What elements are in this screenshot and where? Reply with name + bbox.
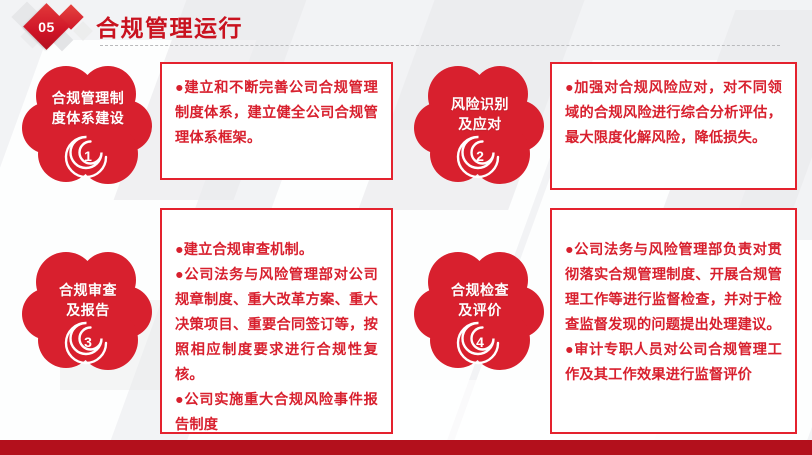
content-panel-4: ●公司法务与风险管理部负责对贯彻落实合规管理制度、开展合规管理工作等进行监督检查… xyxy=(550,208,797,434)
content-text-1: ●建立和不断完善公司合规管理制度体系，建立健全公司合规管理体系框架。 xyxy=(175,76,378,151)
section-number: 05 xyxy=(30,10,63,43)
blob-number-4: 4 xyxy=(414,334,546,350)
blob-label-line: 合规检查 xyxy=(451,282,509,298)
blob-number-3: 3 xyxy=(22,334,154,350)
header-divider xyxy=(100,45,780,46)
content-panel-3: ●建立合规审查机制。●公司法务与风险管理部对公司规章制度、重大改革方案、重大决策… xyxy=(160,208,393,434)
blob-label-line: 及评价 xyxy=(458,302,502,318)
blob-label-line: 合规管理制 xyxy=(52,90,125,106)
blob-label-2: 风险识别 及应对 xyxy=(414,94,546,134)
blob-badge-4: 合规检查 及评价 4 xyxy=(414,248,546,374)
page-title: 合规管理运行 xyxy=(96,9,243,43)
content-text-3: ●建立合规审查机制。●公司法务与风险管理部对公司规章制度、重大改革方案、重大决策… xyxy=(175,238,378,438)
blob-badge-1: 合规管理制 度体系建设 1 xyxy=(22,62,154,188)
blob-badge-3: 合规审查 及报告 3 xyxy=(22,248,154,374)
blob-label-1: 合规管理制 度体系建设 xyxy=(22,88,154,128)
slide-canvas: 05 合规管理运行 合规管理制 度体系建设 1 ●建立和不断完善公司合规管理制度… xyxy=(0,0,812,455)
diamond-cluster-icon: 05 xyxy=(14,2,104,54)
content-panel-1: ●建立和不断完善公司合规管理制度体系，建立健全公司合规管理体系框架。 xyxy=(160,62,393,180)
content-panel-2: ●加强对合规风险应对，对不同领域的合规风险进行综合分析评估，最大限度化解风险，降… xyxy=(550,62,797,190)
blob-label-line: 风险识别 xyxy=(451,96,509,112)
slide-header: 05 合规管理运行 xyxy=(0,0,812,56)
blob-label-line: 及报告 xyxy=(66,302,110,318)
content-text-4: ●公司法务与风险管理部负责对贯彻落实合规管理制度、开展合规管理工作等进行监督检查… xyxy=(565,238,782,388)
blob-label-line: 合规审查 xyxy=(59,282,117,298)
blob-label-3: 合规审查 及报告 xyxy=(22,280,154,320)
bottom-accent-bar xyxy=(0,440,812,455)
blob-label-4: 合规检查 及评价 xyxy=(414,280,546,320)
blob-number-2: 2 xyxy=(414,148,546,164)
blob-number-1: 1 xyxy=(22,148,154,164)
content-text-2: ●加强对合规风险应对，对不同领域的合规风险进行综合分析评估，最大限度化解风险，降… xyxy=(565,76,782,151)
blob-badge-2: 风险识别 及应对 2 xyxy=(414,62,546,188)
blob-label-line: 及应对 xyxy=(458,116,502,132)
blob-label-line: 度体系建设 xyxy=(52,110,125,126)
